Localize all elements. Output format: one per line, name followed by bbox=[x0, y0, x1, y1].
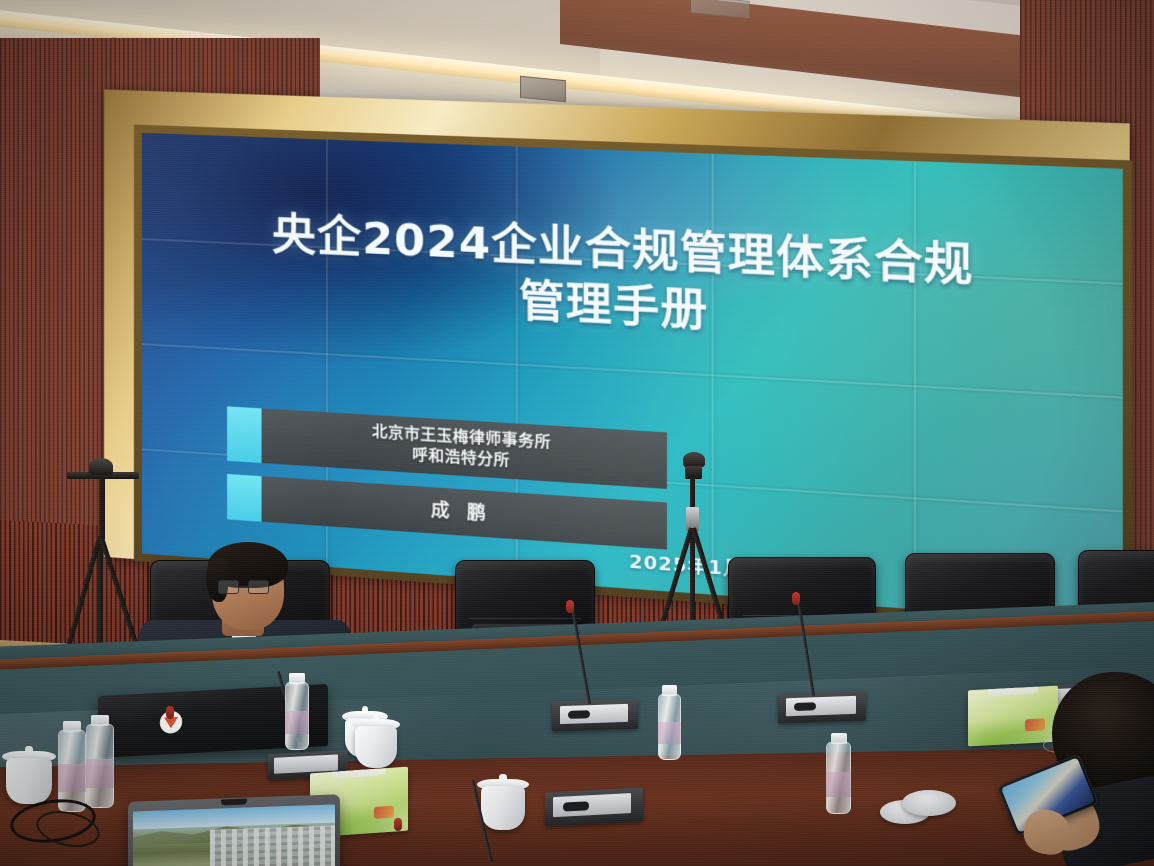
credit-row-presenter: 成 鹏 bbox=[227, 474, 667, 550]
mic-3-button[interactable] bbox=[794, 702, 816, 711]
teacup-2-body bbox=[355, 726, 397, 768]
credit-accent-chip-presenter bbox=[227, 474, 261, 523]
teacup-4[interactable] bbox=[481, 786, 525, 830]
attendee-with-phone bbox=[1000, 672, 1154, 866]
bottle-2[interactable] bbox=[86, 724, 114, 808]
mic-2-base[interactable] bbox=[552, 698, 638, 731]
bottle-5[interactable] bbox=[285, 682, 309, 750]
bottle-1-label bbox=[58, 764, 86, 792]
attendee-laptop-lid bbox=[128, 794, 340, 866]
law-firm-box: 北京市王玉梅律师事务所 呼和浩特分所 bbox=[262, 408, 667, 488]
ceiling-vent-2 bbox=[520, 76, 566, 103]
credit-row-firm: 北京市王玉梅律师事务所 呼和浩特分所 bbox=[227, 406, 667, 488]
teacup-2[interactable] bbox=[355, 726, 397, 768]
wallpaper-cityscape bbox=[210, 826, 335, 866]
tripod-left-camera bbox=[89, 458, 113, 475]
glasses-bridge bbox=[239, 586, 248, 588]
mic-3-base[interactable] bbox=[778, 690, 866, 723]
glasses-lens-left bbox=[218, 580, 239, 594]
mic-1-panel bbox=[274, 754, 338, 773]
attendee-laptop-open[interactable] bbox=[128, 794, 340, 866]
mic-3-capsule bbox=[792, 592, 800, 605]
bottle-2-label bbox=[86, 759, 114, 788]
tissue-box-1-logo bbox=[374, 805, 394, 818]
mic-5-button[interactable] bbox=[563, 801, 589, 811]
mic-5-capsule bbox=[394, 818, 402, 831]
tripod-left-column bbox=[99, 478, 105, 540]
tripod-center-camera bbox=[683, 452, 705, 467]
teacup-1-body bbox=[6, 758, 52, 804]
bottle-4-label bbox=[826, 772, 851, 796]
glasses-lens-right bbox=[248, 580, 269, 594]
teacup-4-body bbox=[481, 786, 525, 830]
chair-1-seam bbox=[469, 618, 581, 619]
mic-2-button[interactable] bbox=[568, 710, 590, 719]
bottle-5-label bbox=[285, 711, 309, 734]
conference-room-scene: 央企2024企业合规管理体系合规 管理手册 北京市王玉梅律师事务所 呼和浩特分所… bbox=[0, 0, 1154, 866]
laptop-webcam-notch-icon bbox=[221, 799, 246, 806]
presenter-glasses bbox=[218, 580, 284, 596]
video-wall[interactable]: 央企2024企业合规管理体系合规 管理手册 北京市王玉梅律师事务所 呼和浩特分所… bbox=[120, 108, 1042, 540]
presenter-name-box: 成 鹏 bbox=[262, 476, 667, 550]
attendee-laptop-screen[interactable] bbox=[133, 804, 335, 866]
teacup-1[interactable] bbox=[6, 758, 52, 804]
saucer-2 bbox=[902, 790, 956, 816]
mic-5-base[interactable] bbox=[545, 787, 643, 826]
bottle-4[interactable] bbox=[826, 742, 851, 814]
mic-2-capsule bbox=[566, 600, 574, 613]
credit-accent-chip-firm bbox=[227, 406, 261, 462]
slide-title: 央企2024企业合规管理体系合规 管理手册 bbox=[142, 203, 1123, 361]
bottle-3[interactable] bbox=[658, 694, 681, 760]
mic-1-capsule bbox=[166, 706, 174, 719]
bottle-3-label bbox=[658, 722, 681, 744]
